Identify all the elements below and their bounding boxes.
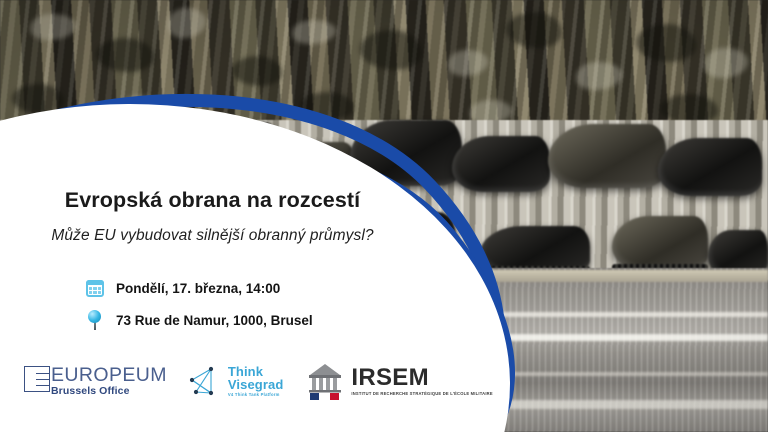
poster-content: Evropská obrana na rozcestí Může EU vybu… (0, 0, 470, 432)
map-pin-icon (86, 310, 104, 330)
visegrad-tagline: V4 Think Tank Platform (228, 393, 283, 397)
europeum-e-mark (24, 366, 50, 392)
logo-think-visegrad: Think Visegrad V4 Think Tank Platform (189, 365, 283, 398)
visegrad-network-icon (189, 365, 223, 397)
logo-irsem: IRSEM INSTITUT DE RECHERCHE STRATÉGIQUE … (305, 362, 492, 400)
page-title: Evropská obrana na rozcestí (0, 188, 425, 213)
event-date-text: Pondělí, 17. března, 14:00 (116, 281, 280, 296)
irsem-building-icon (305, 362, 345, 400)
event-location-text: 73 Rue de Namur, 1000, Brusel (116, 313, 313, 328)
europeum-tagline: Brussels Office (51, 386, 167, 397)
page-subtitle: Může EU vybudovat silnější obranný průmy… (0, 227, 425, 245)
event-date-row: Pondělí, 17. března, 14:00 (86, 279, 280, 297)
event-poster: Evropská obrana na rozcestí Může EU vybu… (0, 0, 768, 432)
logo-strip: EUROPEUM Brussels Office (24, 362, 493, 400)
event-location-row: 73 Rue de Namur, 1000, Brusel (86, 310, 313, 330)
visegrad-line1: Think (228, 365, 283, 378)
logo-europeum: EUROPEUM Brussels Office (24, 366, 167, 397)
irsem-tagline: INSTITUT DE RECHERCHE STRATÉGIQUE DE L'É… (351, 392, 492, 396)
irsem-wordmark: IRSEM (351, 366, 492, 390)
calendar-icon (86, 279, 104, 297)
visegrad-line2: Visegrad (228, 378, 283, 391)
europeum-wordmark: EUROPEUM (51, 366, 167, 386)
